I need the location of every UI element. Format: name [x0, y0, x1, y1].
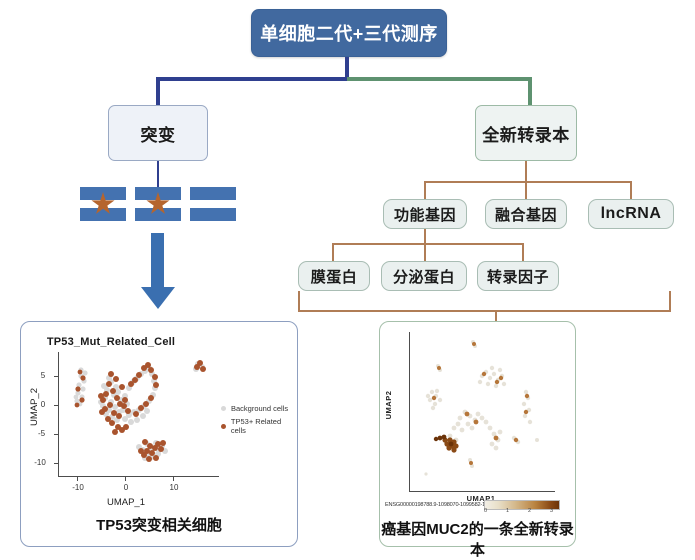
right-scatter-plot	[410, 334, 552, 486]
node-lncrna-label: lncRNA	[601, 205, 662, 223]
connector-level3-drop-3	[522, 243, 524, 261]
left-scatter-plot	[59, 354, 214, 472]
colorbar-tick-3: 3	[550, 508, 553, 514]
node-transcription-factor-label: 转录因子	[487, 266, 549, 287]
diagram-canvas: 单细胞二代+三代测序 突变 全新转录本 功能基因	[0, 0, 695, 556]
right-panel-caption: 癌基因MUC2的一条全新转录本	[380, 518, 575, 560]
colorbar-tick-0: 0	[484, 508, 487, 514]
node-fusion-gene-label: 融合基因	[495, 204, 557, 225]
node-transcription-factor[interactable]: 转录因子	[477, 261, 559, 291]
left-y-tick-neg10	[54, 463, 58, 464]
node-functional-gene-label: 功能基因	[394, 204, 456, 225]
connector-split-right	[347, 77, 532, 81]
node-root-label: 单细胞二代+三代测序	[260, 20, 438, 46]
left-legend-tp53: TP53+ Related cells	[221, 417, 297, 435]
chromosome-bar-bottom	[80, 208, 126, 221]
node-lncrna[interactable]: lncRNA	[588, 199, 674, 229]
down-arrow-shaft	[151, 233, 164, 289]
node-novel-transcript[interactable]: 全新转录本	[475, 105, 577, 161]
connector-level3-bus	[332, 243, 524, 245]
right-x-axis	[409, 491, 555, 492]
connector-bottom-right-riser	[669, 291, 671, 312]
left-x-axis-label: UMAP_1	[89, 497, 163, 508]
chromosome-glyph-2	[135, 187, 181, 221]
connector-bottom-left-riser	[298, 291, 300, 312]
chromosome-bar-bottom	[190, 208, 236, 221]
colorbar-gradient	[484, 500, 560, 510]
node-root-sequencing[interactable]: 单细胞二代+三代测序	[251, 9, 447, 57]
panel-muc2-novel-transcript[interactable]: UMAP1 UMAP2 ENSG00000198788.9-1098070-10…	[379, 321, 576, 547]
panel-tp53-mutation[interactable]: TP53_Mut_Related_Cell	[20, 321, 298, 547]
down-arrow-head	[141, 287, 175, 309]
legend-dot-tp53	[221, 424, 226, 429]
chromosome-glyph-1	[80, 187, 126, 221]
connector-drop-mutation	[156, 77, 160, 105]
legend-label-background: Background cells	[231, 404, 288, 413]
left-x-ticklabel-0: 0	[114, 483, 138, 492]
left-x-ticklabel-10: 10	[162, 483, 186, 492]
legend-dot-background	[221, 406, 226, 411]
node-secreted-protein-label: 分泌蛋白	[393, 266, 455, 287]
left-x-axis	[58, 476, 219, 477]
connector-level2-bus	[424, 181, 632, 183]
connector-drop-novel	[528, 77, 532, 105]
node-mutation[interactable]: 突变	[108, 105, 208, 161]
left-panel-caption: TP53突变相关细胞	[21, 514, 297, 535]
node-fusion-gene[interactable]: 融合基因	[485, 199, 567, 229]
chromosome-glyph-3	[190, 187, 236, 221]
node-novel-transcript-label: 全新转录本	[482, 121, 570, 146]
right-y-axis	[409, 332, 410, 492]
connector-mutation-to-chromosomes	[157, 161, 159, 187]
left-y-tick-0	[54, 405, 58, 406]
node-secreted-protein[interactable]: 分泌蛋白	[381, 261, 467, 291]
connector-level2-drop-1	[424, 181, 426, 199]
connector-bottom-bus	[298, 310, 671, 312]
left-x-tick-0	[125, 477, 126, 481]
colorbar-label: ENSG00000198788.9-1098070-1099582-1	[385, 502, 485, 508]
left-legend-background: Background cells	[221, 404, 288, 413]
left-y-tick-neg5	[54, 434, 58, 435]
connector-level3-drop-1	[332, 243, 334, 261]
right-y-axis-label: UMAP2	[384, 370, 393, 440]
connector-root-stem	[345, 57, 349, 79]
connector-level2-drop-3	[630, 181, 632, 199]
left-y-ticklabel-neg10: -10	[29, 458, 51, 467]
node-membrane-protein[interactable]: 膜蛋白	[298, 261, 370, 291]
colorbar-tick-2: 2	[528, 508, 531, 514]
left-plot-title: TP53_Mut_Related_Cell	[0, 336, 249, 348]
left-y-axis	[58, 352, 59, 477]
node-functional-gene[interactable]: 功能基因	[383, 199, 467, 229]
left-x-ticklabel-neg10: -10	[66, 483, 90, 492]
colorbar-tick-1: 1	[506, 508, 509, 514]
left-x-tick-neg10	[77, 477, 78, 481]
connector-level2-drop-2	[525, 181, 527, 199]
left-x-tick-10	[173, 477, 174, 481]
left-y-axis-label: UMAP_2	[29, 370, 40, 444]
connector-split-left	[156, 77, 348, 81]
node-mutation-label: 突变	[141, 121, 176, 146]
left-y-tick-5	[54, 376, 58, 377]
connector-novel-stem	[525, 161, 527, 183]
chromosome-bar-top	[190, 187, 236, 200]
connector-level3-drop-2	[424, 243, 426, 261]
chromosome-bar-bottom	[135, 208, 181, 221]
legend-label-tp53: TP53+ Related cells	[231, 417, 297, 435]
connector-bottom-stem-to-panel	[495, 310, 497, 321]
node-membrane-protein-label: 膜蛋白	[311, 266, 358, 287]
